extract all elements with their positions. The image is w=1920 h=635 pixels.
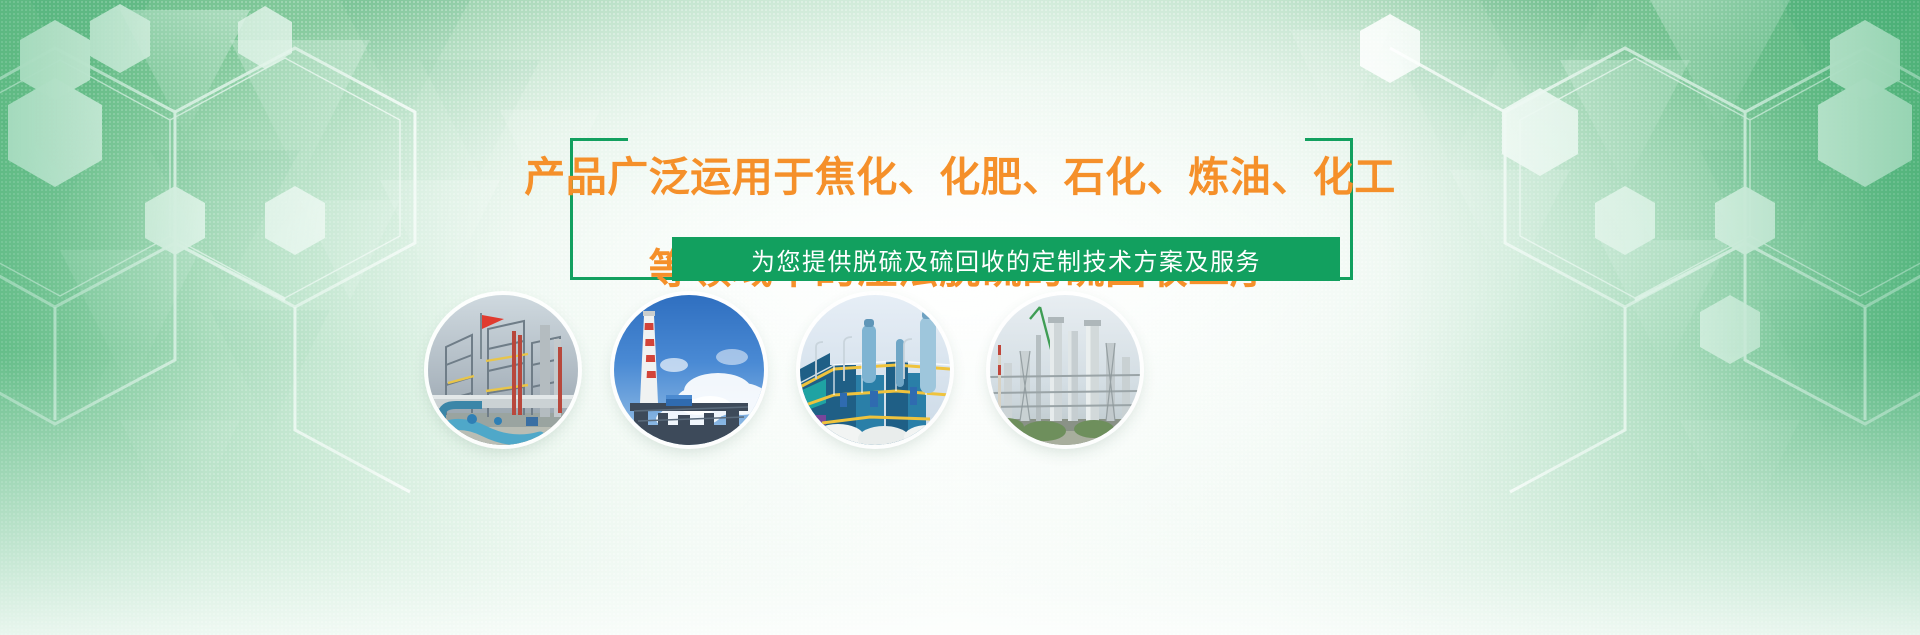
photo-circle-refinery-towers[interactable]	[990, 295, 1140, 445]
photo-circle-sulfur-recovery-unit[interactable]	[800, 295, 950, 445]
photo-circle-chimney-stack-blue-sky[interactable]	[614, 295, 764, 445]
photo-strip	[0, 0, 1920, 635]
promo-banner: 产品广泛运用于焦化、化肥、石化、炼油、化工 等领域中的湿法脱硫的硫回收工序 为您…	[0, 0, 1920, 635]
photo-circle-desulfurization-plant-piping[interactable]	[428, 295, 578, 445]
